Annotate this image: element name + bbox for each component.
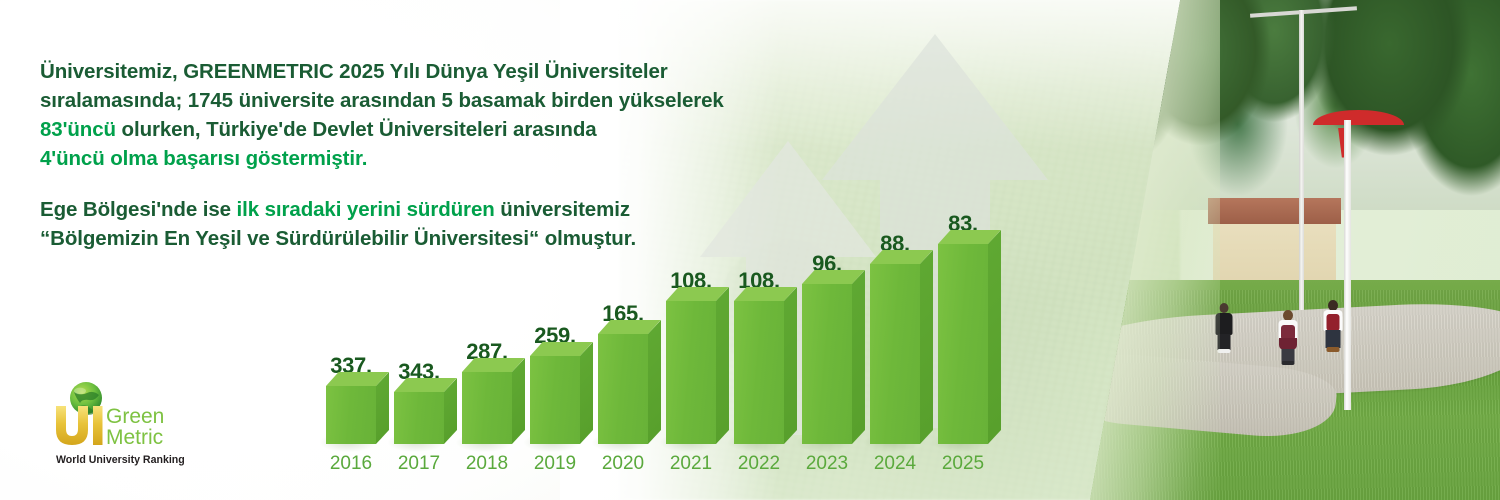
text-segment: Üniversitemiz, GREENMETRIC 2025 Yılı Dün… <box>40 60 668 83</box>
headline-line: sıralamasında; 1745 üniversite arasından… <box>40 86 800 115</box>
bar-group[interactable]: 108. 2021 <box>666 301 716 444</box>
bar-face-front <box>802 284 852 444</box>
logo-word-green: Green <box>106 405 164 428</box>
bar-year-label: 2021 <box>670 453 712 475</box>
bar-group[interactable]: 287. 2018 <box>462 372 512 444</box>
bar-group[interactable]: 337. 2016 <box>326 386 376 444</box>
photo-person-walking <box>1320 300 1346 358</box>
bar-face-side <box>852 270 865 444</box>
bar-3d <box>530 356 580 444</box>
greenmetric-banner: Üniversitemiz, GREENMETRIC 2025 Yılı Dün… <box>0 0 1500 500</box>
bar-face-front <box>598 334 648 444</box>
bar-face-side <box>444 378 457 444</box>
headline-line: Üniversitemiz, GREENMETRIC 2025 Yılı Dün… <box>40 57 800 86</box>
letter-i <box>93 406 103 445</box>
bar-group[interactable]: 108. 2022 <box>734 301 784 444</box>
text-segment: Ege Bölgesi'nde ise <box>40 198 237 221</box>
bar-group[interactable]: 259. 2019 <box>530 356 580 444</box>
bar-3d <box>938 244 988 444</box>
bar-year-label: 2016 <box>330 453 372 475</box>
bar-year-label: 2017 <box>398 453 440 475</box>
bar-year-label: 2024 <box>874 453 916 475</box>
headline-line: 4'üncü olma başarısı göstermiştir. <box>40 144 800 173</box>
bar-3d <box>870 264 920 444</box>
bar-group[interactable]: 88. 2024 <box>870 264 920 444</box>
bar-face-front <box>870 264 920 444</box>
bar-3d <box>666 301 716 444</box>
bar-year-label: 2019 <box>534 453 576 475</box>
bar-face-side <box>512 358 525 444</box>
bar-face-front <box>734 301 784 444</box>
bar-year-label: 2018 <box>466 453 508 475</box>
headline-line: 83'üncü olurken, Türkiye'de Devlet Ünive… <box>40 115 800 144</box>
bar-3d <box>326 386 376 444</box>
photo-person-walking <box>1275 310 1301 366</box>
bar-3d <box>598 334 648 444</box>
bar-group[interactable]: 165. 2020 <box>598 334 648 444</box>
photo-person-walking <box>1213 303 1235 353</box>
bar-face-front <box>326 386 376 444</box>
ranking-bar-chart: 337. 2016 343. 2017 287. <box>300 190 1020 480</box>
bar-face-side <box>716 287 729 444</box>
bar-face-side <box>784 287 797 444</box>
text-segment-highlight: 83'üncü <box>40 118 116 141</box>
bar-year-label: 2020 <box>602 453 644 475</box>
bar-face-side <box>920 250 933 444</box>
bar-face-front <box>530 356 580 444</box>
text-segment: sıralamasında; 1745 üniversite arasından… <box>40 89 724 112</box>
bar-year-label: 2022 <box>738 453 780 475</box>
text-segment: olurken, Türkiye'de Devlet Üniversiteler… <box>116 118 597 141</box>
logo-tagline: World University Ranking <box>56 454 185 466</box>
bar-group[interactable]: 343. 2017 <box>394 392 444 444</box>
bar-year-label: 2023 <box>806 453 848 475</box>
bar-3d <box>462 372 512 444</box>
photo-lamp-post <box>1344 120 1351 410</box>
bar-group[interactable]: 83. 2025 <box>938 244 988 444</box>
text-segment-highlight: 4'üncü olma başarısı göstermiştir. <box>40 147 367 170</box>
bar-face-front <box>666 301 716 444</box>
bar-group[interactable]: 96. 2023 <box>802 284 852 444</box>
bar-face-side <box>988 230 1001 444</box>
logo-word-metric: Metric <box>106 426 163 449</box>
ui-greenmetric-logo: Green Metric World University Ranking <box>44 378 194 478</box>
bar-face-side <box>376 372 389 444</box>
bar-3d <box>734 301 784 444</box>
bar-face-front <box>938 244 988 444</box>
bar-face-front <box>462 372 512 444</box>
photo-lamp-post-far <box>1299 10 1304 310</box>
headline-paragraph-1: Üniversitemiz, GREENMETRIC 2025 Yılı Dün… <box>40 57 800 173</box>
bar-face-front <box>394 392 444 444</box>
bar-year-label: 2025 <box>942 453 984 475</box>
bar-face-side <box>648 320 661 444</box>
bar-face-side <box>580 342 593 444</box>
letter-u <box>56 406 88 445</box>
bar-3d <box>394 392 444 444</box>
bar-3d <box>802 284 852 444</box>
